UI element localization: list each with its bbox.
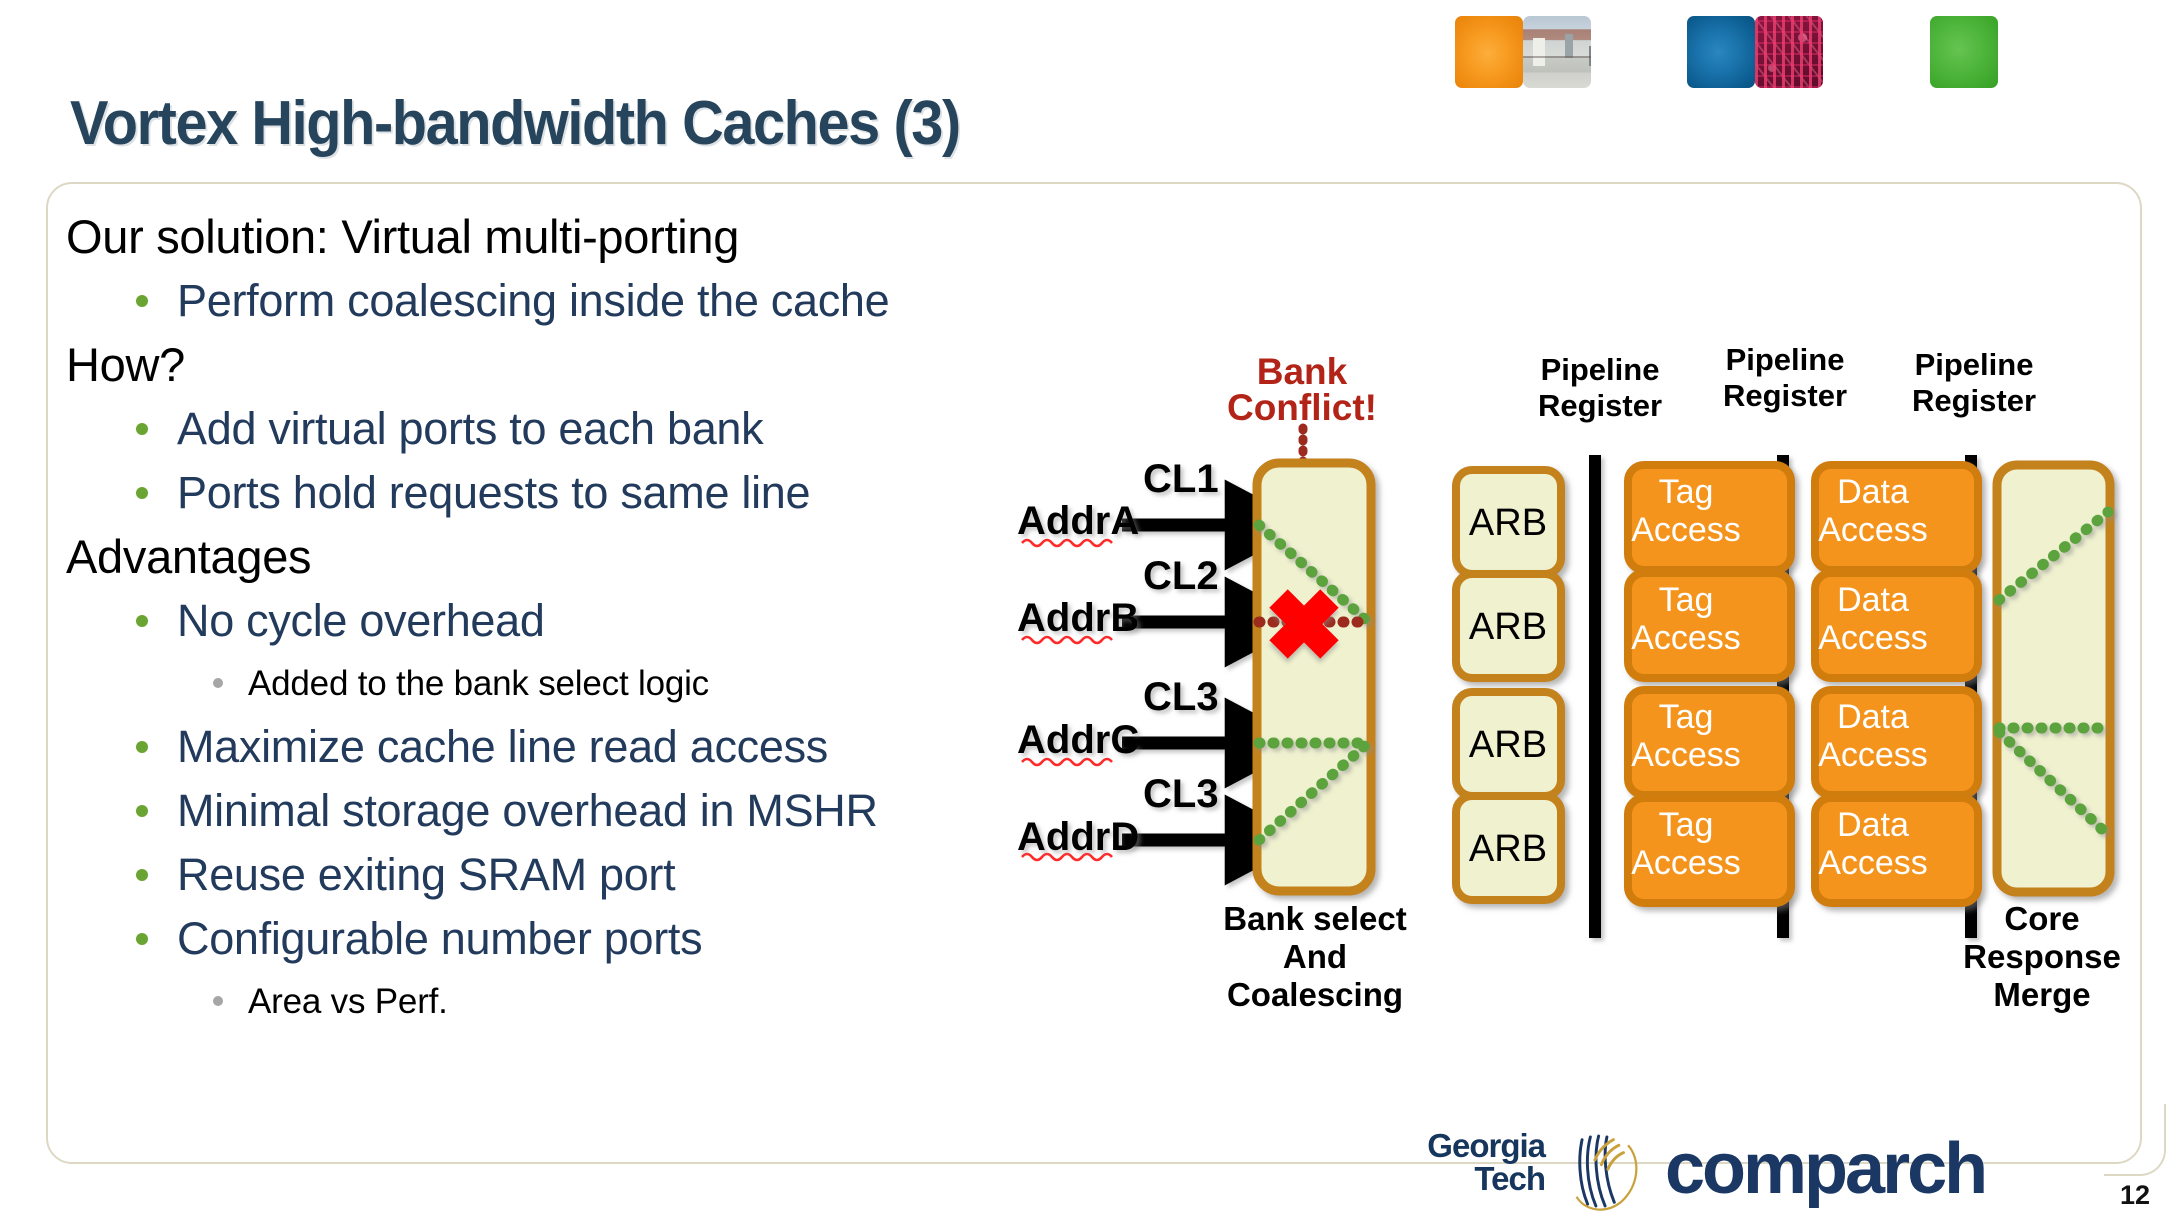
sub-bullet-dot-icon <box>213 996 223 1006</box>
bullet-dot-icon <box>136 933 148 945</box>
bullet-text: Minimal storage overhead in MSHR <box>177 779 878 843</box>
page-number: 12 <box>2120 1180 2150 1211</box>
bullet-text: Our solution: Virtual multi-porting <box>66 205 739 269</box>
header-decorative-tiles <box>1455 16 2175 88</box>
list-item: Maximize cache line read access <box>136 715 1016 779</box>
sub-list-item: Area vs Perf. <box>213 971 1016 1033</box>
sub-bullet-dot-icon <box>213 678 223 688</box>
bullet-heading: Advantages <box>66 525 1016 589</box>
bullet-text: How? <box>66 333 185 397</box>
tile-group-3 <box>1930 16 1998 88</box>
bullet-heading: Our solution: Virtual multi-porting <box>66 205 1016 269</box>
bullet-dot-icon <box>136 805 148 817</box>
bullet-dot-icon <box>136 295 148 307</box>
bullet-text: Configurable number ports <box>177 907 702 971</box>
blue-gradient-tile <box>1687 16 1755 88</box>
list-item: Ports hold requests to same line <box>136 461 1016 525</box>
bullet-list: Our solution: Virtual multi-porting Perf… <box>66 205 1016 1033</box>
list-item: Perform coalescing inside the cache <box>136 269 1016 333</box>
georgia-tech-line-1: Georgia <box>1355 1129 1545 1162</box>
bullet-heading: How? <box>66 333 1016 397</box>
bullet-text: Perform coalescing inside the cache <box>177 269 889 333</box>
list-item: Add virtual ports to each bank <box>136 397 1016 461</box>
page-title: Vortex High-bandwidth Caches (3) <box>70 88 960 159</box>
bullet-dot-icon <box>136 741 148 753</box>
bullet-text: Maximize cache line read access <box>177 715 828 779</box>
comparch-wordmark: comparch <box>1665 1133 1985 1205</box>
georgia-tech-line-2: Tech <box>1355 1162 1545 1195</box>
bullet-dot-icon <box>136 869 148 881</box>
bullet-text: Add virtual ports to each bank <box>177 397 763 461</box>
footer-logos: Georgia Tech comparch <box>1355 1125 2155 1215</box>
bullet-text: Advantages <box>66 525 311 589</box>
frame-corner <box>2104 1104 2166 1176</box>
orange-gradient-tile <box>1455 16 1523 88</box>
bullet-dot-icon <box>136 615 148 627</box>
list-item: Configurable number ports <box>136 907 1016 971</box>
list-item: Reuse exiting SRAM port <box>136 843 1016 907</box>
list-item: Minimal storage overhead in MSHR <box>136 779 1016 843</box>
tile-group-1 <box>1455 16 1591 88</box>
bullet-dot-icon <box>136 423 148 435</box>
bullet-text: Ports hold requests to same line <box>177 461 810 525</box>
georgia-tech-logo: Georgia Tech <box>1355 1129 1545 1195</box>
circuit-board-tile <box>1755 16 1823 88</box>
comparch-swirl-icon <box>1560 1125 1652 1217</box>
bullet-text: Reuse exiting SRAM port <box>177 843 675 907</box>
campus-photo-tile <box>1523 16 1591 88</box>
green-gradient-tile <box>1930 16 1998 88</box>
list-item: No cycle overhead <box>136 589 1016 653</box>
bullet-text: Area vs Perf. <box>248 971 448 1033</box>
bullet-text: No cycle overhead <box>177 589 545 653</box>
bullet-text: Added to the bank select logic <box>248 653 709 715</box>
sub-list-item: Added to the bank select logic <box>213 653 1016 715</box>
bullet-dot-icon <box>136 487 148 499</box>
tile-group-2 <box>1687 16 1823 88</box>
